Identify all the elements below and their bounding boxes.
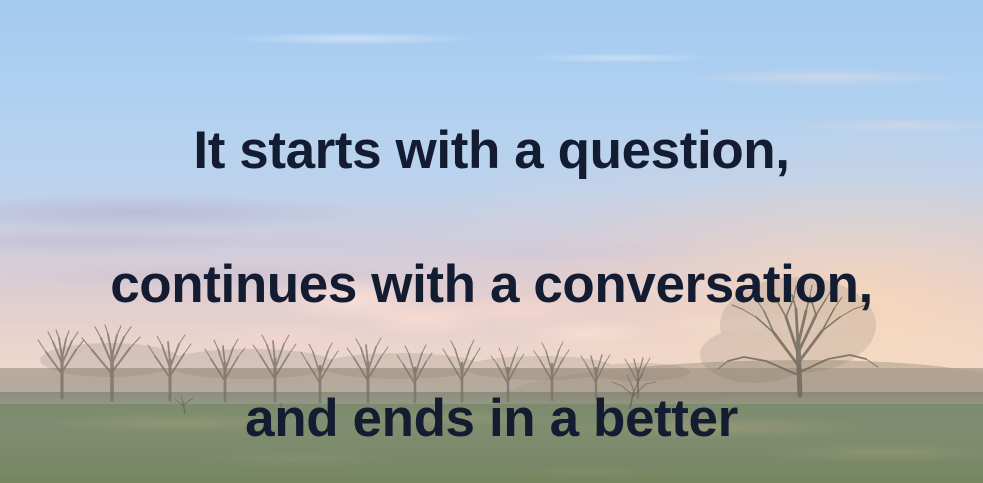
quote-line-1: It starts with a question, [0,117,983,184]
quote-line-2: continues with a conversation, [0,251,983,318]
quote-graphic: It starts with a question, continues wit… [0,0,983,483]
quote-line-3: and ends in a better [0,385,983,452]
quote-text: It starts with a question, continues wit… [0,50,983,483]
